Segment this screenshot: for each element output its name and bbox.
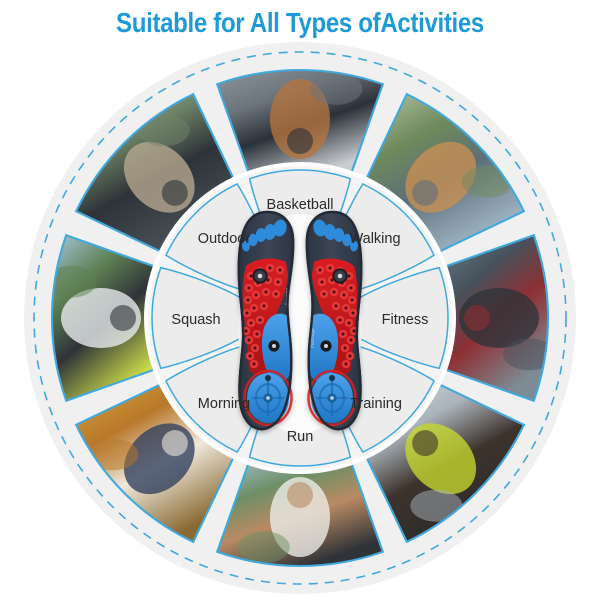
heel-pad (311, 373, 353, 423)
insole-right: massage (307, 212, 361, 429)
activity-wheel: massagemassage BasketballWalkingFitnessT… (0, 0, 600, 600)
heel-pad (247, 373, 289, 423)
page-title: Suitable for All Types ofActivities (42, 7, 558, 39)
infographic-canvas: Suitable for All Types ofActivities mass… (0, 0, 600, 600)
arch-magnet (268, 340, 279, 351)
magnet-disc (252, 268, 267, 283)
insole-product-layer: massagemassage (0, 0, 600, 600)
insole-left: massage (239, 212, 293, 429)
magnet-disc (332, 268, 347, 283)
arch-magnet (320, 340, 331, 351)
